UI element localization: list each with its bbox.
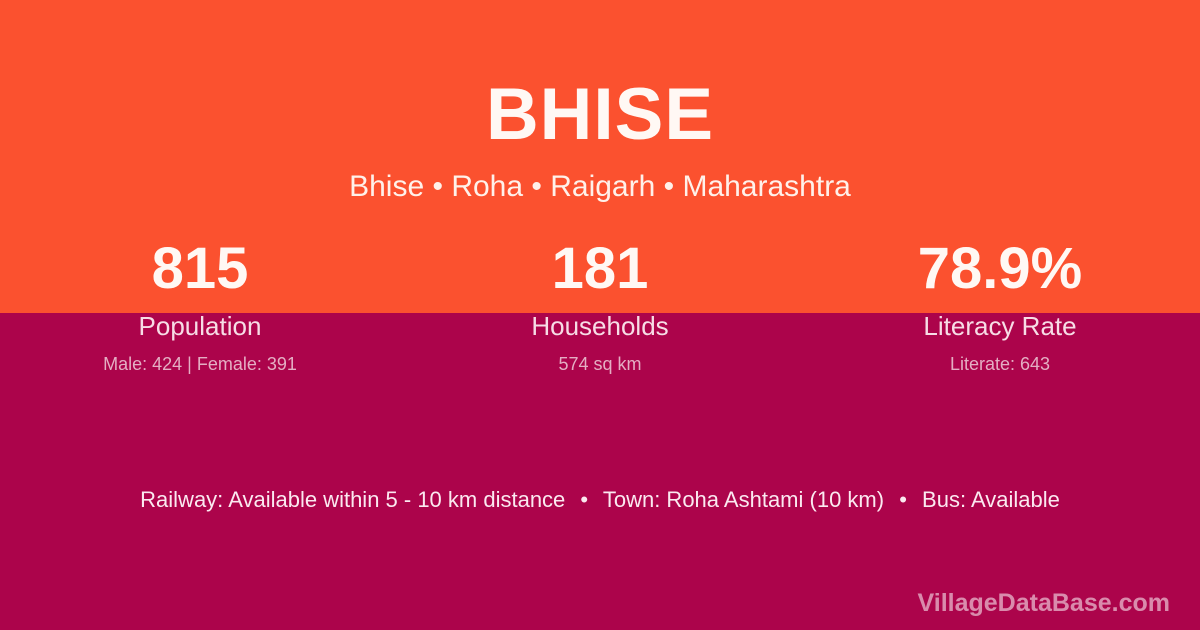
site-watermark: VillageDataBase.com	[918, 588, 1170, 618]
stats-row: 815 Population Male: 424 | Female: 391 1…	[0, 238, 1200, 375]
breadcrumb: Bhise • Roha • Raigarh • Maharashtra	[0, 151, 1200, 202]
info-railway: Railway: Available within 5 - 10 km dist…	[140, 487, 565, 512]
info-bus: Bus: Available	[922, 487, 1060, 512]
stat-label-literacy-rate: Literacy Rate	[800, 308, 1200, 341]
stat-label-population: Population	[0, 308, 400, 341]
stat-value-households: 181	[400, 238, 800, 308]
stat-label-households: Households	[400, 308, 800, 341]
amenities-info-line: Railway: Available within 5 - 10 km dist…	[0, 485, 1200, 515]
stat-value-literacy-rate: 78.9%	[800, 238, 1200, 308]
village-info-card: BHISE Bhise • Roha • Raigarh • Maharasht…	[0, 0, 1200, 630]
stat-population: 815 Population Male: 424 | Female: 391	[0, 238, 400, 375]
stat-literacy-rate: 78.9% Literacy Rate Literate: 643	[800, 238, 1200, 375]
stat-value-population: 815	[0, 238, 400, 308]
info-separator-1: •	[571, 487, 597, 512]
stat-households: 181 Households 574 sq km	[400, 238, 800, 375]
info-town: Town: Roha Ashtami (10 km)	[603, 487, 884, 512]
stat-sub-population: Male: 424 | Female: 391	[0, 341, 400, 375]
stat-sub-households: 574 sq km	[400, 341, 800, 375]
info-separator-2: •	[890, 487, 916, 512]
card-header: BHISE Bhise • Roha • Raigarh • Maharasht…	[0, 0, 1200, 202]
page-title: BHISE	[0, 0, 1200, 151]
stat-sub-literacy-rate: Literate: 643	[800, 341, 1200, 375]
